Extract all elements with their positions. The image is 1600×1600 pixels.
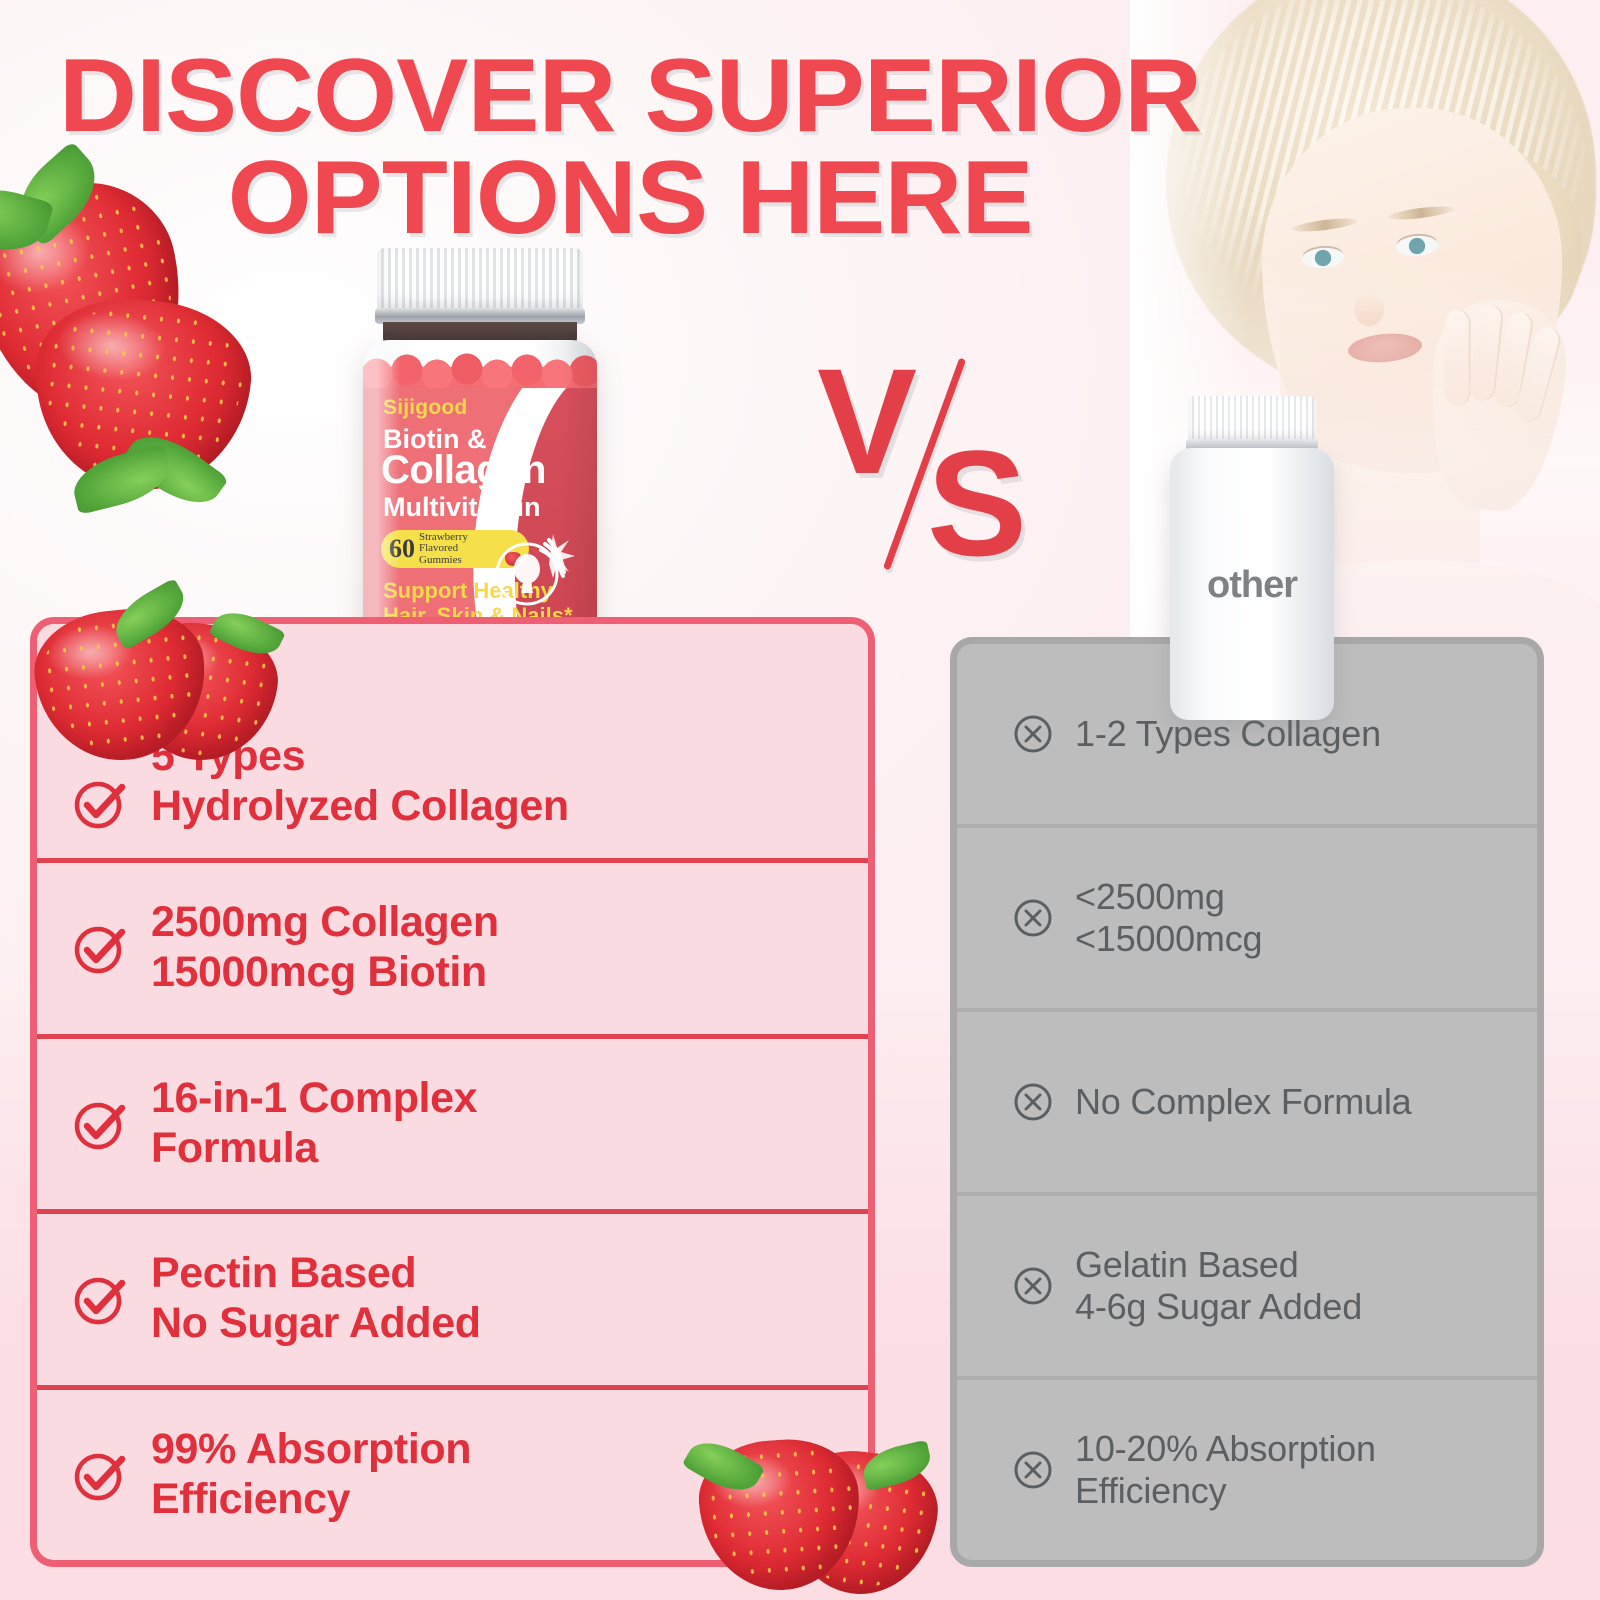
brand-name: Sijigood (383, 396, 467, 420)
feature-row-other-3: No Complex Formula (957, 1012, 1537, 1196)
check-circle-icon (71, 1095, 129, 1153)
check-circle-icon (71, 1446, 129, 1504)
cross-circle-icon (1009, 710, 1057, 758)
feature-row-other-4: Gelatin Based 4-6g Sugar Added (957, 1196, 1537, 1380)
check-circle-icon (71, 774, 129, 832)
feature-ours-4-line-1: Pectin Based (151, 1249, 416, 1297)
feature-row-ours-4: Pectin Based No Sugar Added (37, 1214, 868, 1390)
bottle-cap (377, 248, 583, 312)
feature-row-ours-2: 2500mg Collagen 15000mcg Biotin (37, 863, 868, 1039)
feature-ours-3-line-1: 16-in-1 Complex (151, 1074, 477, 1122)
feature-row-other-2: <2500mg <15000mcg (957, 828, 1537, 1012)
cross-circle-icon (1009, 1446, 1057, 1494)
feature-row-other-5: 10-20% Absorption Efficiency (957, 1380, 1537, 1560)
cross-circle-icon (1009, 894, 1057, 942)
check-circle-icon (71, 1270, 129, 1328)
comparison-panel-other: 1-2 Types Collagen <2500mg <15000mcg No … (950, 637, 1544, 1567)
headline: DISCOVER SUPERIOR OPTIONS HERE (0, 46, 1260, 250)
feature-ours-2-line-2: 15000mcg Biotin (151, 948, 487, 996)
feature-other-4-line-1: Gelatin Based (1075, 1244, 1299, 1285)
feature-ours-5-line-1: 99% Absorption (151, 1425, 471, 1473)
product-title-line-3: Multivitamin (383, 492, 541, 523)
feature-row-ours-3: 16-in-1 Complex Formula (37, 1039, 868, 1215)
cross-circle-icon (1009, 1078, 1057, 1126)
badge-line-1: Strawberry Flavored (419, 531, 468, 555)
badge-line-2: Gummies (419, 554, 462, 566)
feature-other-2-line-1: <2500mg (1075, 876, 1225, 917)
hair-woman-icon (493, 528, 577, 620)
feature-ours-3-line-2: Formula (151, 1124, 318, 1172)
feature-other-5-line-2: Efficiency (1075, 1470, 1226, 1511)
check-circle-icon (71, 919, 129, 977)
versus-graphic: V S (815, 352, 1035, 572)
competitor-bottle-label: other (1162, 564, 1342, 607)
feature-other-5-line-1: 10-20% Absorption (1075, 1428, 1376, 1469)
strawberry-decoration (25, 289, 259, 500)
feature-ours-4-line-2: No Sugar Added (151, 1299, 481, 1347)
strawberry-decoration (695, 1435, 865, 1596)
feature-ours-1-line-2: Hydrolyzed Collagen (151, 782, 569, 830)
competitor-bottle[interactable]: other (1162, 396, 1342, 726)
headline-line-2: OPTIONS HERE (0, 148, 1285, 250)
feature-other-4-line-2: 4-6g Sugar Added (1075, 1286, 1362, 1327)
product-title-line-2: Collagen (381, 448, 546, 493)
feature-other-2-line-2: <15000mcg (1075, 918, 1262, 959)
comparison-panel-ours: 5 Types Hydrolyzed Collagen 2500mg Colla… (30, 617, 875, 1567)
feature-ours-5-line-2: Efficiency (151, 1475, 350, 1523)
feature-other-3-line-1: No Complex Formula (1075, 1081, 1412, 1122)
headline-line-1: DISCOVER SUPERIOR (0, 46, 1285, 148)
cross-circle-icon (1009, 1262, 1057, 1310)
competitor-bottle-cap (1188, 396, 1316, 442)
feature-ours-2-line-1: 2500mg Collagen (151, 898, 499, 946)
versus-v: V (817, 346, 917, 496)
strawberry-decoration (29, 602, 214, 769)
versus-s: S (927, 428, 1027, 578)
gummy-count: 60 (389, 536, 415, 562)
